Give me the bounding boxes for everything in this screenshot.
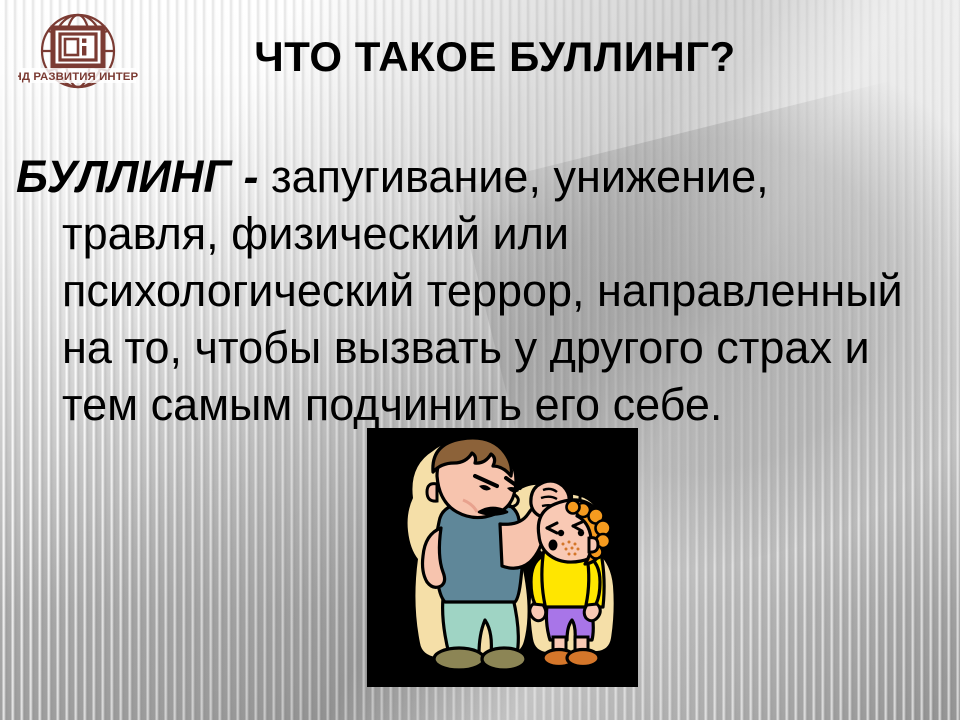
- slide-root: ФОНД РАЗВИТИЯ ИНТЕРНЕТ ЧТО ТАКОЕ БУЛЛИНГ…: [0, 0, 960, 720]
- bullying-illustration: [367, 428, 638, 687]
- definition-term: БУЛЛИНГ -: [16, 151, 271, 202]
- bullying-clipart-icon: [367, 428, 638, 687]
- page-title: ЧТО ТАКОЕ БУЛЛИНГ?: [0, 34, 960, 80]
- definition-paragraph: БУЛЛИНГ - запугивание, унижение, травля,…: [16, 148, 932, 433]
